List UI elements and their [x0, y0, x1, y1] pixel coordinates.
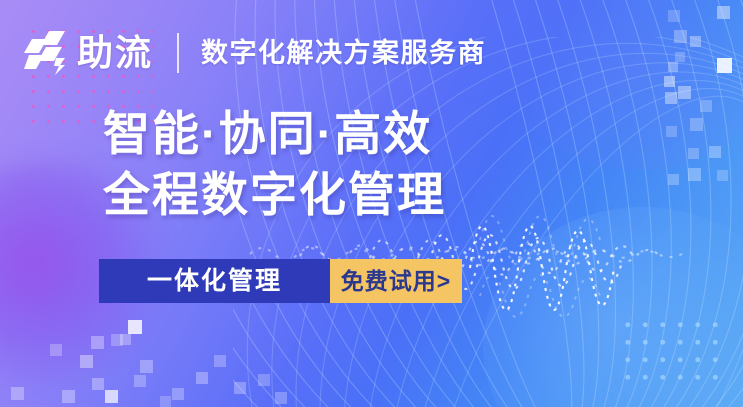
headline-line-1: 智能·协同·高效 [103, 103, 446, 164]
lightning-bolt-logo-icon [24, 30, 68, 76]
header-divider [177, 33, 179, 73]
blue-dot-grid-icon [619, 316, 725, 388]
brand-tagline: 数字化解决方案服务商 [201, 40, 486, 67]
top-right-glow-blob [493, 0, 743, 170]
bottom-right-glow-blob [483, 207, 743, 407]
headline-line-2: 全程数字化管理 [103, 164, 446, 225]
headline-block: 智能·协同·高效 全程数字化管理 [103, 103, 446, 225]
cta-row: 一体化管理 免费试用> [99, 259, 462, 303]
free-trial-button[interactable]: 免费试用> [330, 259, 462, 303]
integrated-management-button[interactable]: 一体化管理 [99, 259, 330, 303]
promo-banner: 助流 数字化解决方案服务商 智能·协同·高效 全程数字化管理 一体化管理 免费试… [0, 0, 743, 407]
brand-header: 助流 数字化解决方案服务商 [24, 27, 486, 79]
brand-name: 助流 [77, 35, 153, 71]
